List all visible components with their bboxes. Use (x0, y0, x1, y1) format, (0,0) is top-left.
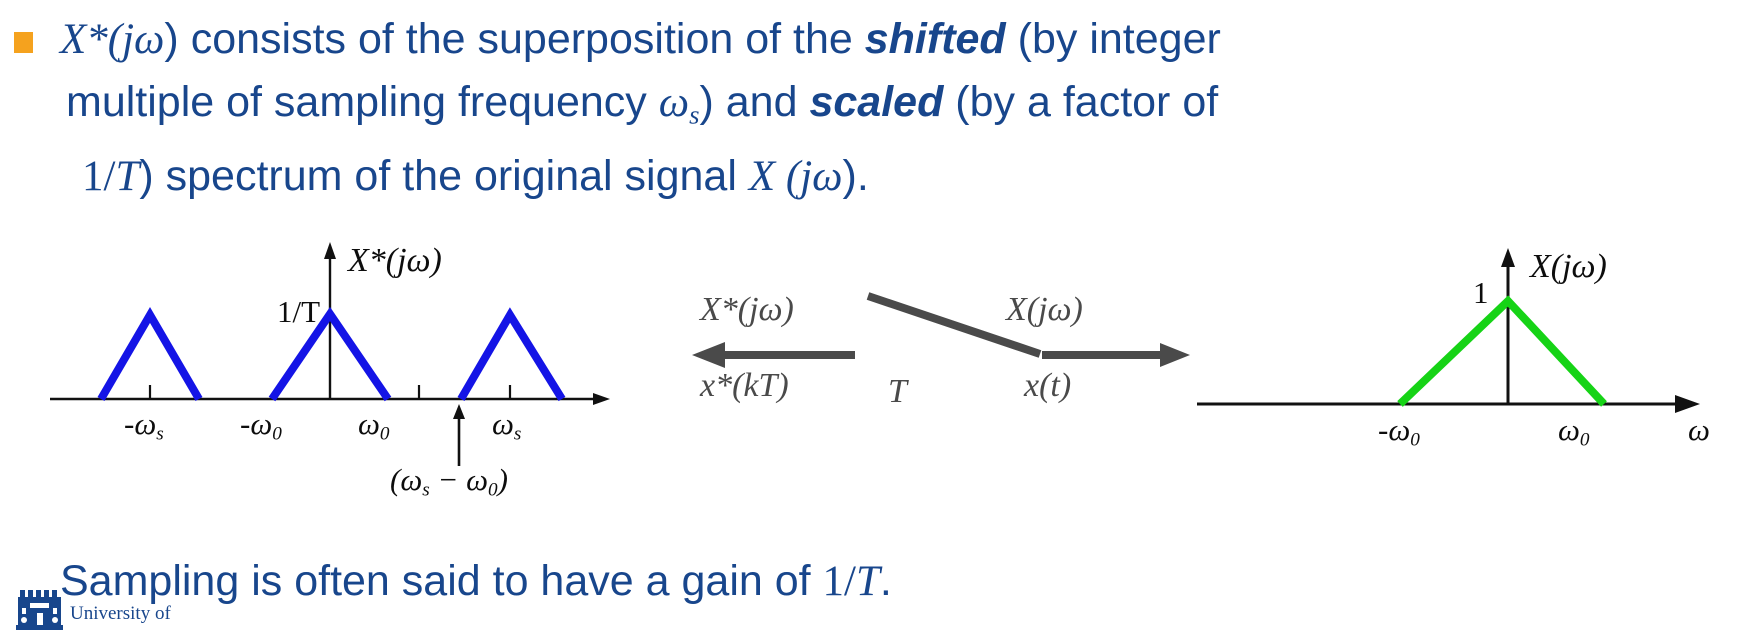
left-plot-tick-neg-w0: -ω0 (240, 406, 282, 445)
label-paren: ) (1060, 367, 1071, 404)
label-text: x*(kT (700, 367, 777, 404)
right-plot-axis-label: X(jω) (1530, 248, 1607, 286)
left-plot-annotation-arrow (453, 404, 465, 466)
bullet-l1-bold: shifted (865, 15, 1006, 63)
tick-text: ω (358, 406, 380, 441)
tick-sub: 0 (272, 423, 282, 444)
left-plot-amplitude-label: 1/T (277, 294, 320, 330)
annotation-sub-s: s (422, 479, 429, 500)
tick-text: -ω (240, 406, 272, 441)
bullet-l3-text: ) spectrum of the original signal (139, 152, 748, 200)
annotation-open: (ω (390, 462, 422, 497)
tick-text: ω (492, 406, 514, 441)
tick-sub: 0 (380, 423, 390, 444)
left-plot-tick-ws: ωs (492, 406, 521, 445)
bullet-l1-tail: (by integer (1006, 15, 1221, 63)
bottom-period: . (880, 557, 892, 605)
university-crest-icon (14, 586, 66, 634)
bullet-l1-omega: ω (134, 16, 164, 63)
tick-text: -ω (124, 406, 156, 441)
left-plot-tick-w0: ω0 (358, 406, 390, 445)
bullet-l2-tail: (by a factor of (943, 78, 1218, 126)
right-plot-amplitude-label: 1 (1473, 275, 1489, 311)
bullet-l2-bold: scaled (809, 78, 943, 126)
right-plot-tick-w0: ω0 (1558, 412, 1590, 451)
right-plot-tick-neg-w0: -ω0 (1378, 412, 1420, 451)
bullet-text: X*(jω) consists of the superposition of … (60, 8, 1720, 208)
right-plot-trace (1400, 301, 1604, 404)
slide-canvas: X*(jω) consists of the superposition of … (0, 0, 1750, 644)
university-logo: University of (14, 586, 254, 644)
bullet-l3-tail: ). (843, 152, 869, 200)
bullet-l2-omega-sub: s (689, 99, 699, 129)
bullet-l3-frac: 1/ (82, 153, 115, 200)
bullet-l3-jw: (j (775, 153, 812, 200)
label-paren: ) (777, 367, 788, 404)
tick-sub: s (156, 423, 163, 444)
label-text: x(t (1024, 367, 1060, 404)
tick-text: ω (1558, 412, 1580, 447)
annotation-close: ) (498, 462, 508, 497)
left-plot-axis-label: X*(jω) (348, 242, 442, 280)
middle-label-switch-period: T (888, 373, 907, 411)
left-plot-traces (101, 314, 562, 399)
bullet-l1-text: ) consists of the superposition of the (164, 15, 864, 63)
left-plot-annotation-label: (ωs − ω0) (390, 462, 508, 501)
right-plot-x-axis-label: ω (1688, 412, 1710, 448)
annotation-minus: − ω (430, 462, 488, 497)
tick-text: -ω (1378, 412, 1410, 447)
tick-sub: 0 (1410, 429, 1420, 450)
middle-left-arrow (692, 342, 855, 368)
bullet-square-icon (14, 32, 33, 53)
annotation-sub-0: 0 (488, 479, 498, 500)
bullet-l2-omega: ω (659, 79, 689, 126)
bottom-frac: 1/ (823, 558, 856, 605)
middle-label-bottom-left: x*(kT) (700, 367, 789, 405)
middle-right-arrow (1042, 343, 1190, 367)
bullet-l1-math: X*(j (60, 16, 134, 63)
bullet-l2-text: multiple of sampling frequency (66, 78, 659, 126)
middle-label-bottom-right: x(t) (1024, 367, 1071, 405)
bottom-T: T (856, 558, 880, 605)
logo-wordmark: University of (70, 604, 171, 624)
bullet-l3-T: T (115, 153, 139, 200)
middle-label-top-left: X*(jω) (700, 291, 794, 329)
figure-area: X*(jω) 1/T -ωs -ω0 ω0 ωs (ωs − ω0) X*(jω… (0, 236, 1750, 526)
tick-sub: 0 (1580, 429, 1590, 450)
bullet-l2-mid: ) and (700, 78, 810, 126)
tick-sub: s (514, 423, 521, 444)
bullet-l3-omega: ω (812, 153, 842, 200)
left-plot-tick-neg-ws: -ωs (124, 406, 164, 445)
bullet-l3-X: X (749, 153, 775, 200)
right-plot-axes (1197, 248, 1700, 413)
left-plot-axes (50, 242, 610, 405)
middle-label-top-right: X(jω) (1006, 291, 1083, 329)
